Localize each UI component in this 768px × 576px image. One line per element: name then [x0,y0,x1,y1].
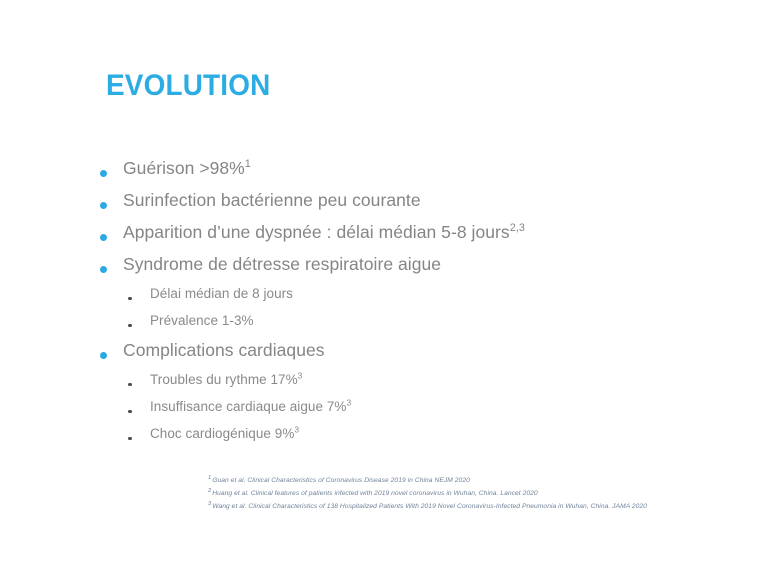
footnote-ref: 3 [298,371,303,381]
sub-bullet-dot-icon [128,283,150,305]
list-item-label: Complications cardiaques [123,337,325,363]
bullet-dot-icon [100,337,123,363]
sub-list-item-label: Choc cardiogénique 9%3 [150,423,299,445]
list-item: Syndrome de détresse respiratoire aigue [100,251,720,277]
footnote-item: 2Huang et al. Clinical features of patie… [208,487,748,500]
footnote-item: 3Wang et al. Clinical Characteristics of… [208,500,748,513]
list-item: Guérison >98%1 [100,155,720,181]
footnote-text: Huang et al. Clinical features of patien… [212,490,537,497]
slide-canvas: EVOLUTION Guérison >98%1 Surinfection ba… [0,0,768,576]
footnote-text: Wang et al. Clinical Characteristics of … [212,503,647,510]
sub-list-item: Choc cardiogénique 9%3 [100,423,720,445]
footnote-ref: 3 [294,425,299,435]
bullet-dot-icon [100,155,123,181]
footnote-ref: 2,3 [510,222,525,234]
list-item: Surinfection bactérienne peu courante [100,187,720,213]
footnote-text: Guan et al. Clinical Characteristics of … [212,477,470,484]
bullet-list: Guérison >98%1 Surinfection bactérienne … [100,155,720,450]
list-item-label: Apparition d’une dyspnée : délai médian … [123,219,525,245]
sub-list-item-label: Troubles du rythme 17%3 [150,369,302,391]
sub-bullet-dot-icon [128,396,150,418]
sub-list-item: Délai médian de 8 jours [100,283,720,305]
footnote-item: 1Guan et al. Clinical Characteristics of… [208,474,748,487]
bullet-dot-icon [100,187,123,213]
sub-list-item: Prévalence 1-3% [100,310,720,332]
list-item-label: Guérison >98%1 [123,155,251,181]
sub-bullet-dot-icon [128,369,150,391]
sub-bullet-dot-icon [128,310,150,332]
bullet-dot-icon [100,251,123,277]
bullet-dot-icon [100,219,123,245]
list-item: Apparition d’une dyspnée : délai médian … [100,219,720,245]
sub-list-item-label: Prévalence 1-3% [150,310,254,332]
footnote-ref: 1 [245,158,251,170]
list-item: Complications cardiaques [100,337,720,363]
sub-list-item: Insuffisance cardiaque aigue 7%3 [100,396,720,418]
sub-list-item-label: Délai médian de 8 jours [150,283,293,305]
page-title: EVOLUTION [106,70,270,102]
sub-list-item: Troubles du rythme 17%3 [100,369,720,391]
list-item-label: Surinfection bactérienne peu courante [123,187,421,213]
footnote-list: 1Guan et al. Clinical Characteristics of… [208,474,748,513]
sub-list-item-label: Insuffisance cardiaque aigue 7%3 [150,396,351,418]
sub-bullet-dot-icon [128,423,150,445]
footnote-ref: 3 [346,398,351,408]
list-item-label: Syndrome de détresse respiratoire aigue [123,251,441,277]
